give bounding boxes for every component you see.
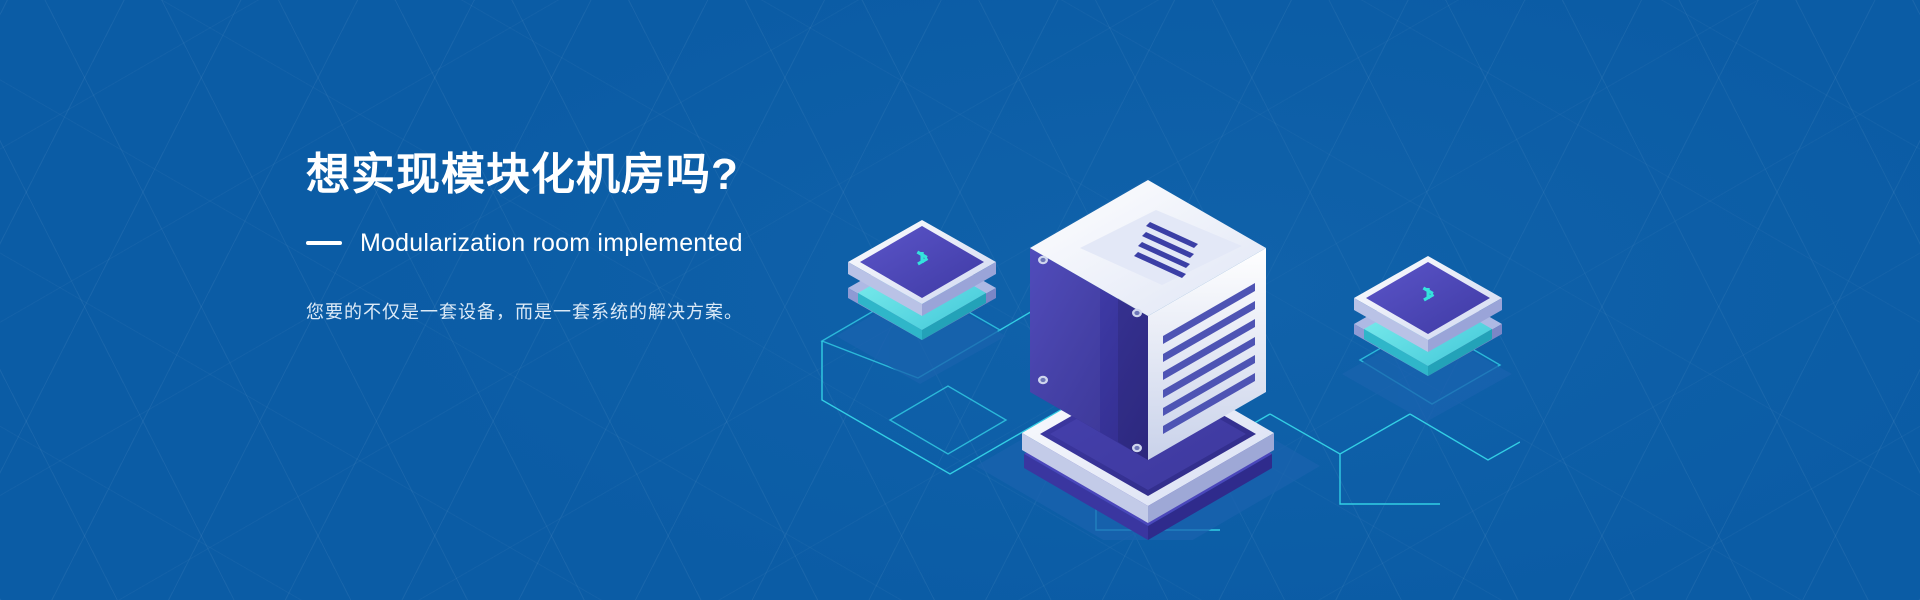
isometric-server-illustration <box>800 60 1520 540</box>
hero-banner: 想实现模块化机房吗? Modularization room implement… <box>0 0 1920 600</box>
central-server-tower <box>1022 180 1274 540</box>
subtitle: Modularization room implemented <box>360 229 743 258</box>
divider-dash <box>306 241 342 245</box>
